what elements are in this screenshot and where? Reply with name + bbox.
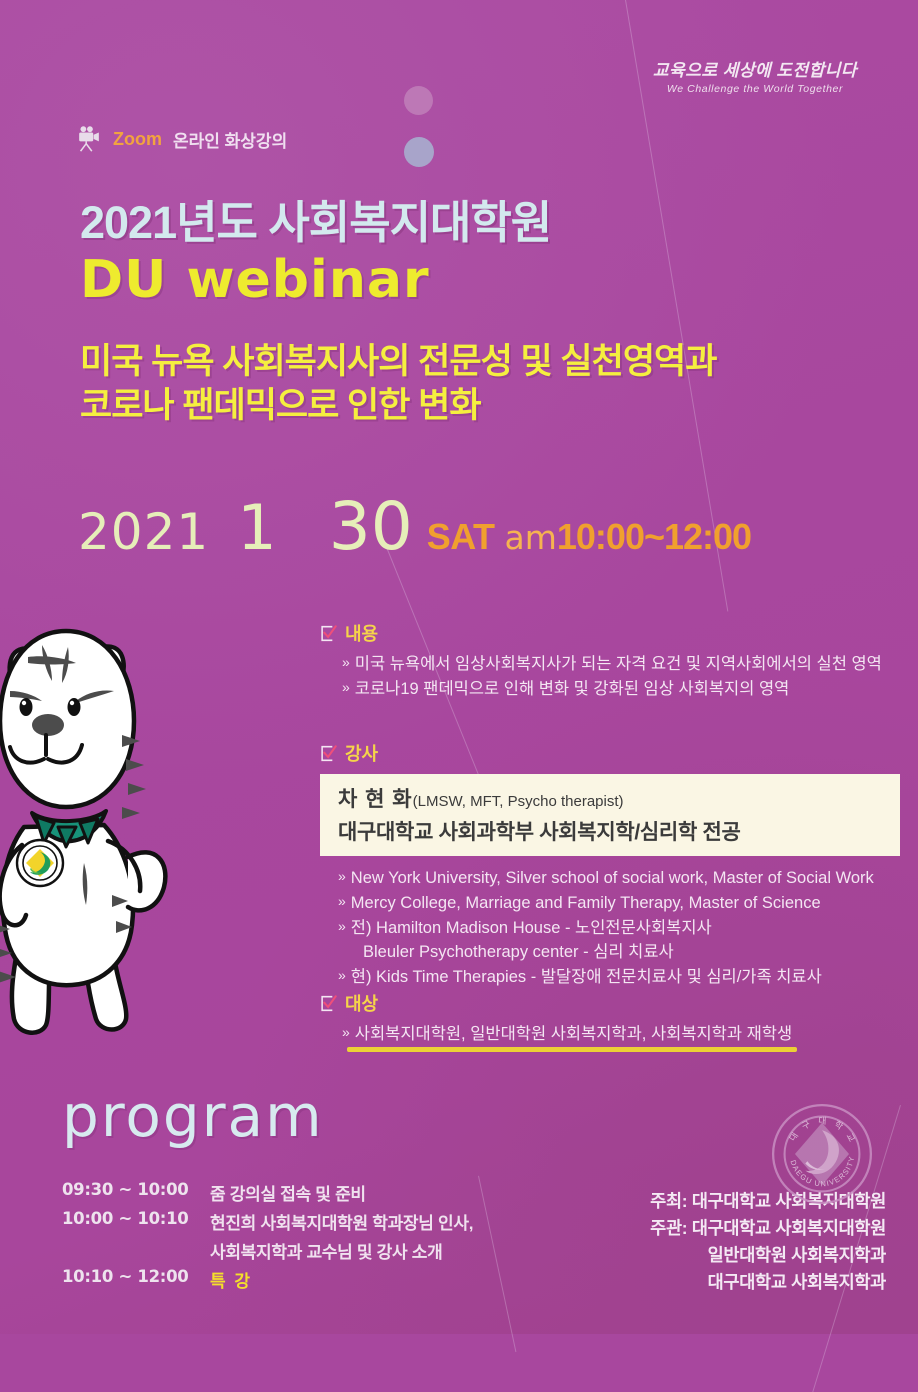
white-tiger-mascot: [0, 595, 188, 1040]
lecturer-affiliation: 대구대학교 사회과학부 사회복지학/심리학 전공: [338, 816, 886, 846]
list-item: » 전) Hamilton Madison House - 노인전문사회복지사: [338, 916, 900, 941]
decorative-circle-pink: [404, 86, 433, 115]
subtitle-line2: 코로나 팬데믹으로 인한 변화: [80, 384, 716, 428]
list-item-text: 현) Kids Time Therapies - 발달장애 전문치료사 및 심리…: [351, 965, 822, 990]
date-weekday: SAT: [427, 516, 495, 558]
decorative-diagonal-line: [478, 1176, 516, 1352]
date-month: 1: [237, 491, 276, 564]
list-item-text: New York University, Silver school of so…: [351, 866, 874, 891]
university-slogan: 교육으로 세상에 도전합니다 We Challenge the World To…: [640, 60, 870, 95]
bullet-marker: »: [338, 891, 346, 916]
lecturer-credentials: (LMSW, MFT, Psycho therapist): [413, 793, 624, 810]
daegu-university-emblem: [17, 840, 63, 886]
list-item-text: Bleuler Psychotherapy center - 심리 치료사: [363, 940, 674, 965]
section-target-list: » 사회복지대학원, 일반대학원 사회복지학과, 사회복지학과 재학생: [320, 1022, 792, 1047]
daegu-university-seal: 대 구 대 학 교 DAEGU UNIVERSITY 1956: [770, 1102, 874, 1206]
poster-background: 교육으로 세상에 도전합니다 We Challenge the World To…: [0, 0, 918, 1334]
list-item: Bleuler Psychotherapy center - 심리 치료사: [338, 940, 900, 965]
decorative-circle-blue: [404, 137, 434, 167]
host-line: 주관: 대구대학교 사회복지대학원: [650, 1215, 886, 1242]
section-content-list: » 미국 뉴욕에서 임상사회복지사가 되는 자격 요건 및 지역사회에서의 실천…: [320, 652, 882, 702]
program-schedule: 09:30 ~ 10:00 줌 강의실 접속 및 준비 10:00 ~ 10:1…: [62, 1180, 473, 1296]
date-year: 2021: [78, 503, 209, 561]
list-item: » 미국 뉴욕에서 임상사회복지사가 되는 자격 요건 및 지역사회에서의 실천…: [342, 652, 882, 677]
table-row: 10:10 ~ 12:00 특 강: [62, 1267, 473, 1292]
lecturer-name: 차 현 화: [338, 788, 413, 811]
highlight-underline: [347, 1047, 797, 1052]
list-item-text: 사회복지대학원, 일반대학원 사회복지학과, 사회복지학과 재학생: [355, 1022, 792, 1047]
list-item: » 사회복지대학원, 일반대학원 사회복지학과, 사회복지학과 재학생: [342, 1022, 792, 1047]
bullet-marker: »: [342, 1022, 350, 1047]
bullet-marker: »: [338, 866, 346, 891]
schedule-desc: 줌 강의실 접속 및 준비: [210, 1180, 366, 1205]
list-item: » 현) Kids Time Therapies - 발달장애 전문치료사 및 …: [338, 965, 900, 990]
host-line: 일반대학원 사회복지학과: [650, 1242, 886, 1269]
movie-camera-icon: [74, 124, 104, 154]
schedule-time: 09:30 ~ 10:00: [62, 1180, 210, 1199]
bullet-marker: »: [342, 652, 350, 677]
checkbox-checked-icon: [320, 745, 337, 762]
section-lecturer-list: » New York University, Silver school of …: [320, 866, 900, 990]
program-heading: program: [62, 1082, 324, 1150]
slogan-korean: 교육으로 세상에 도전합니다: [640, 60, 870, 81]
zoom-online-banner: Zoom 온라인 화상강의: [74, 124, 287, 154]
section-content: 내용 » 미국 뉴욕에서 임상사회복지사가 되는 자격 요건 및 지역사회에서의…: [320, 620, 882, 702]
date-day: 30: [329, 488, 413, 565]
section-lecturer-header: 강사: [320, 740, 900, 766]
list-item: » 코로나19 팬데믹으로 인해 변화 및 강화된 임상 사회복지의 영역: [342, 677, 882, 702]
table-row: 사회복지학과 교수님 및 강사 소개: [62, 1238, 473, 1263]
section-target: 대상 » 사회복지대학원, 일반대학원 사회복지학과, 사회복지학과 재학생: [320, 990, 792, 1047]
checkbox-checked-icon: [320, 995, 337, 1012]
bullet-marker: »: [342, 677, 350, 702]
section-lecturer-label: 강사: [345, 740, 378, 766]
date-meridiem: am: [505, 518, 557, 557]
list-item-text: 전) Hamilton Madison House - 노인전문사회복지사: [351, 916, 712, 941]
table-row: 09:30 ~ 10:00 줌 강의실 접속 및 준비: [62, 1180, 473, 1205]
host-line: 대구대학교 사회복지학과: [650, 1269, 886, 1296]
schedule-desc: 현진희 사회복지대학원 학과장님 인사,: [210, 1209, 473, 1234]
zoom-korean-label: 온라인 화상강의: [173, 127, 287, 152]
poster-title-line2: DU webinar: [80, 250, 430, 310]
slogan-english: We Challenge the World Together: [640, 83, 870, 95]
date-hours: 10:00~12:00: [557, 516, 751, 558]
section-content-label: 내용: [345, 620, 378, 646]
checkbox-checked-icon: [320, 625, 337, 642]
lecturer-name-line: 차 현 화(LMSW, MFT, Psycho therapist): [338, 783, 886, 813]
bullet-marker: »: [338, 916, 346, 941]
table-row: 10:00 ~ 10:10 현진희 사회복지대학원 학과장님 인사,: [62, 1209, 473, 1234]
section-target-label: 대상: [345, 990, 378, 1016]
schedule-desc: 특 강: [210, 1267, 252, 1292]
section-lecturer: 강사 차 현 화(LMSW, MFT, Psycho therapist) 대구…: [320, 740, 900, 990]
list-item-text: 코로나19 팬데믹으로 인해 변화 및 강화된 임상 사회복지의 영역: [355, 677, 790, 702]
list-item: » New York University, Silver school of …: [338, 866, 900, 891]
lecturer-name-box: 차 현 화(LMSW, MFT, Psycho therapist) 대구대학교…: [320, 774, 900, 856]
list-item: » Mercy College, Marriage and Family The…: [338, 891, 900, 916]
poster-subtitle: 미국 뉴욕 사회복지사의 전문성 및 실천영역과 코로나 팬데믹으로 인한 변화: [80, 340, 716, 428]
list-item-text: 미국 뉴욕에서 임상사회복지사가 되는 자격 요건 및 지역사회에서의 실천 영…: [355, 652, 882, 677]
event-date-row: 2021 1 30 SAT am 10:00~12:00: [78, 488, 751, 565]
list-item-text: Mercy College, Marriage and Family Thera…: [351, 891, 821, 916]
zoom-brand-label: Zoom: [113, 129, 162, 150]
section-content-header: 내용: [320, 620, 882, 646]
schedule-time: 10:00 ~ 10:10: [62, 1209, 210, 1228]
schedule-desc: 사회복지학과 교수님 및 강사 소개: [210, 1238, 442, 1263]
section-target-header: 대상: [320, 990, 792, 1016]
schedule-time: 10:10 ~ 12:00: [62, 1267, 210, 1286]
poster-title-line1: 2021년도 사회복지대학원: [80, 186, 551, 251]
subtitle-line1: 미국 뉴욕 사회복지사의 전문성 및 실천영역과: [80, 340, 716, 384]
bullet-marker: »: [338, 965, 346, 990]
